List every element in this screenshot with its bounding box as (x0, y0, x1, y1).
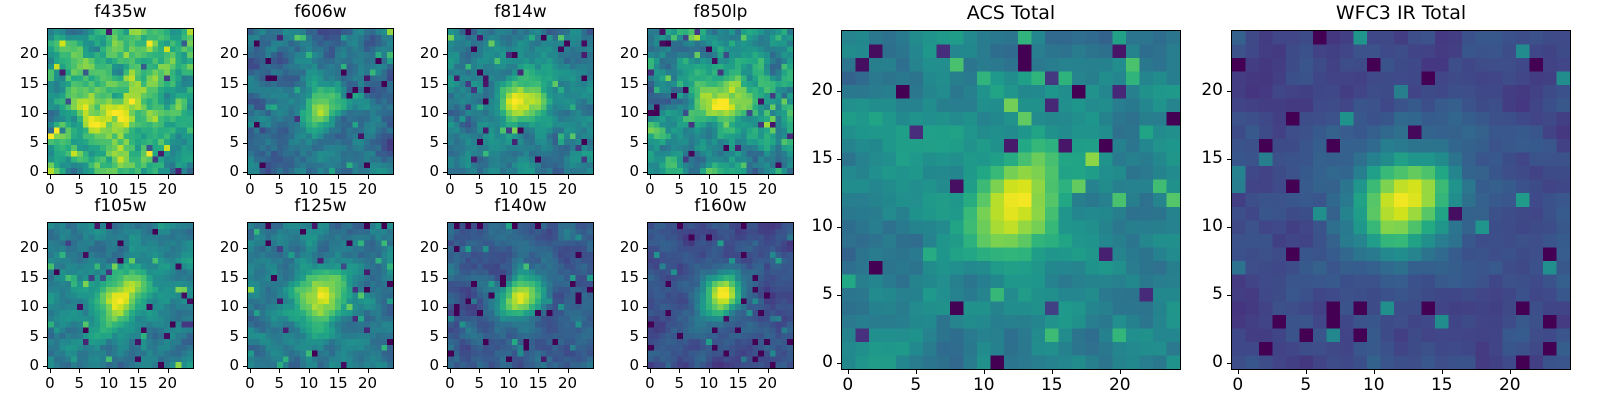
heatmap-image-f435w (48, 29, 193, 174)
heatmap-image-f105w (48, 223, 193, 368)
x-tick-mark-wfc3-ir-total-2 (1374, 370, 1375, 374)
x-tick-label-f814w-4: 20 (543, 182, 593, 197)
x-tick-mark-wfc3-ir-total-0 (1238, 370, 1239, 374)
x-tick-mark-f140w-2 (509, 369, 510, 373)
y-tick-label-f105w-4: 20 (0, 240, 39, 255)
x-tick-mark-f160w-1 (679, 369, 680, 373)
x-tick-mark-acs-total-3 (1052, 370, 1053, 374)
x-tick-mark-f140w-0 (450, 369, 451, 373)
x-tick-mark-f125w-0 (250, 369, 251, 373)
figure-canvas: f435w0510152005101520f606w05101520051015… (0, 0, 1600, 400)
heatmap-axes-f160w[interactable] (647, 222, 794, 369)
x-tick-label-f435w-3: 15 (113, 182, 163, 197)
x-tick-label-f435w-1: 5 (54, 182, 104, 197)
x-tick-mark-f814w-2 (509, 175, 510, 179)
heatmap-axes-f125w[interactable] (247, 222, 394, 369)
x-tick-mark-f105w-1 (79, 369, 80, 373)
x-tick-label-f140w-0: 0 (425, 376, 475, 391)
x-tick-mark-f160w-3 (738, 369, 739, 373)
x-tick-label-f850lp-1: 5 (654, 182, 704, 197)
x-tick-label-acs-total-3: 15 (1027, 377, 1077, 394)
y-tick-label-f435w-3: 15 (0, 76, 39, 91)
x-tick-label-f105w-3: 15 (113, 376, 163, 391)
panel-title-f160w: f160w (647, 198, 794, 215)
x-tick-label-f850lp-0: 0 (625, 182, 675, 197)
heatmap-axes-f850lp[interactable] (647, 28, 794, 175)
x-tick-label-f850lp-2: 10 (684, 182, 734, 197)
y-tick-label-f435w-0: 0 (0, 164, 39, 179)
x-tick-mark-f435w-2 (109, 175, 110, 179)
x-tick-label-f606w-3: 15 (313, 182, 363, 197)
x-tick-label-f850lp-4: 20 (743, 182, 793, 197)
x-tick-mark-f160w-4 (768, 369, 769, 373)
y-tick-label-f105w-0: 0 (0, 358, 39, 373)
x-tick-label-f814w-1: 5 (454, 182, 504, 197)
y-tick-label-f435w-1: 5 (0, 135, 39, 150)
x-tick-label-f435w-4: 20 (143, 182, 193, 197)
x-tick-label-f606w-0: 0 (225, 182, 275, 197)
y-tick-label-f435w-2: 10 (0, 105, 39, 120)
x-tick-mark-f606w-3 (338, 175, 339, 179)
heatmap-axes-acs-total[interactable] (841, 30, 1181, 370)
x-tick-mark-f435w-3 (138, 175, 139, 179)
x-tick-label-f105w-1: 5 (54, 376, 104, 391)
panel-title-f435w: f435w (47, 4, 194, 21)
x-tick-mark-f160w-0 (650, 369, 651, 373)
x-tick-mark-f140w-4 (568, 369, 569, 373)
x-tick-mark-f125w-3 (338, 369, 339, 373)
x-tick-label-f850lp-3: 15 (713, 182, 763, 197)
x-tick-mark-f850lp-4 (768, 175, 769, 179)
x-tick-label-f160w-3: 15 (713, 376, 763, 391)
x-tick-mark-f814w-1 (479, 175, 480, 179)
x-tick-label-f140w-2: 10 (484, 376, 534, 391)
x-tick-label-f606w-1: 5 (254, 182, 304, 197)
x-tick-mark-wfc3-ir-total-4 (1510, 370, 1511, 374)
heatmap-axes-f606w[interactable] (247, 28, 394, 175)
x-tick-label-f140w-4: 20 (543, 376, 593, 391)
x-tick-mark-acs-total-2 (984, 370, 985, 374)
x-tick-mark-f435w-1 (79, 175, 80, 179)
y-tick-label-f105w-1: 5 (0, 329, 39, 344)
panel-title-f606w: f606w (247, 4, 394, 21)
heatmap-axes-f814w[interactable] (447, 28, 594, 175)
x-tick-mark-f606w-1 (279, 175, 280, 179)
x-tick-label-f814w-0: 0 (425, 182, 475, 197)
x-tick-mark-f125w-4 (368, 369, 369, 373)
x-tick-label-wfc3-ir-total-0: 0 (1213, 377, 1263, 394)
heatmap-image-f140w (448, 223, 593, 368)
x-tick-mark-f435w-0 (50, 175, 51, 179)
x-tick-label-f606w-4: 20 (343, 182, 393, 197)
x-tick-mark-f140w-1 (479, 369, 480, 373)
heatmap-image-acs-total (842, 31, 1180, 369)
x-tick-mark-acs-total-4 (1120, 370, 1121, 374)
x-tick-mark-f105w-4 (168, 369, 169, 373)
x-tick-label-f435w-0: 0 (25, 182, 75, 197)
panel-title-f105w: f105w (47, 198, 194, 215)
x-tick-label-f125w-2: 10 (284, 376, 334, 391)
x-tick-mark-acs-total-1 (916, 370, 917, 374)
x-tick-label-f140w-1: 5 (454, 376, 504, 391)
heatmap-axes-f140w[interactable] (447, 222, 594, 369)
x-tick-mark-f125w-1 (279, 369, 280, 373)
x-tick-mark-f125w-2 (309, 369, 310, 373)
x-tick-label-f125w-1: 5 (254, 376, 304, 391)
x-tick-label-f105w-4: 20 (143, 376, 193, 391)
x-tick-label-acs-total-2: 10 (959, 377, 1009, 394)
x-tick-label-wfc3-ir-total-3: 15 (1417, 377, 1467, 394)
x-tick-label-f140w-3: 15 (513, 376, 563, 391)
x-tick-mark-f606w-4 (368, 175, 369, 179)
x-tick-mark-f606w-2 (309, 175, 310, 179)
heatmap-image-f160w (648, 223, 793, 368)
y-tick-label-f105w-3: 15 (0, 270, 39, 285)
panel-title-f814w: f814w (447, 4, 594, 21)
x-tick-label-acs-total-4: 20 (1095, 377, 1145, 394)
x-tick-label-f160w-4: 20 (743, 376, 793, 391)
x-tick-mark-wfc3-ir-total-3 (1442, 370, 1443, 374)
heatmap-image-f850lp (648, 29, 793, 174)
x-tick-label-f814w-3: 15 (513, 182, 563, 197)
panel-title-wfc3-ir-total: WFC3 IR Total (1231, 4, 1571, 23)
x-tick-mark-f850lp-3 (738, 175, 739, 179)
x-tick-mark-wfc3-ir-total-1 (1306, 370, 1307, 374)
x-tick-label-f160w-0: 0 (625, 376, 675, 391)
heatmap-axes-f435w[interactable] (47, 28, 194, 175)
x-tick-label-acs-total-0: 0 (823, 377, 873, 394)
panel-title-f140w: f140w (447, 198, 594, 215)
x-tick-mark-f105w-2 (109, 369, 110, 373)
x-tick-label-f606w-2: 10 (284, 182, 334, 197)
x-tick-label-f125w-4: 20 (343, 376, 393, 391)
x-tick-mark-f814w-4 (568, 175, 569, 179)
panel-title-acs-total: ACS Total (841, 4, 1181, 23)
x-tick-mark-acs-total-0 (848, 370, 849, 374)
x-tick-mark-f850lp-2 (709, 175, 710, 179)
x-tick-label-f105w-0: 0 (25, 376, 75, 391)
x-tick-label-f814w-2: 10 (484, 182, 534, 197)
x-tick-mark-f435w-4 (168, 175, 169, 179)
x-tick-label-f435w-2: 10 (84, 182, 134, 197)
panel-title-f850lp: f850lp (647, 4, 794, 21)
x-tick-mark-f105w-3 (138, 369, 139, 373)
y-tick-label-f435w-4: 20 (0, 46, 39, 61)
x-tick-mark-f814w-3 (538, 175, 539, 179)
x-tick-mark-f160w-2 (709, 369, 710, 373)
x-tick-label-f160w-2: 10 (684, 376, 734, 391)
x-tick-mark-f850lp-1 (679, 175, 680, 179)
x-tick-mark-f140w-3 (538, 369, 539, 373)
heatmap-axes-wfc3-ir-total[interactable] (1231, 30, 1571, 370)
x-tick-label-f160w-1: 5 (654, 376, 704, 391)
x-tick-label-f125w-0: 0 (225, 376, 275, 391)
x-tick-mark-f606w-0 (250, 175, 251, 179)
x-tick-label-wfc3-ir-total-1: 5 (1281, 377, 1331, 394)
x-tick-label-f105w-2: 10 (84, 376, 134, 391)
panel-wfc3-ir-total: WFC3 IR Total0510152005101520 (0, 0, 1600, 400)
heatmap-axes-f105w[interactable] (47, 222, 194, 369)
heatmap-image-wfc3-ir-total (1232, 31, 1570, 369)
panel-title-f125w: f125w (247, 198, 394, 215)
x-tick-label-wfc3-ir-total-4: 20 (1485, 377, 1535, 394)
heatmap-image-f125w (248, 223, 393, 368)
x-tick-label-wfc3-ir-total-2: 10 (1349, 377, 1399, 394)
heatmap-image-f606w (248, 29, 393, 174)
x-tick-mark-f814w-0 (450, 175, 451, 179)
x-tick-label-acs-total-1: 5 (891, 377, 941, 394)
y-tick-label-f105w-2: 10 (0, 299, 39, 314)
x-tick-label-f125w-3: 15 (313, 376, 363, 391)
heatmap-image-f814w (448, 29, 593, 174)
x-tick-mark-f850lp-0 (650, 175, 651, 179)
x-tick-mark-f105w-0 (50, 369, 51, 373)
